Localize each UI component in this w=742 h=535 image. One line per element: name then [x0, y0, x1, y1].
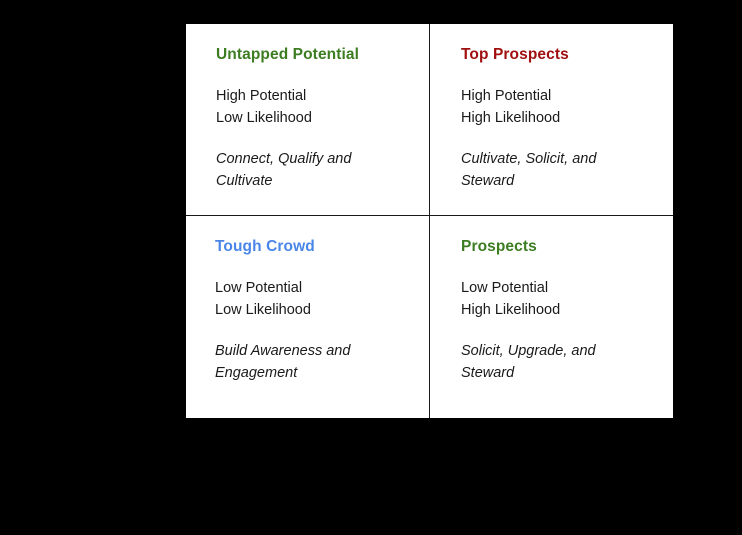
quadrant-untapped-potential[interactable]: Untapped Potential High Potential Low Li… [186, 24, 430, 216]
prospect-matrix: Untapped Potential High Potential Low Li… [186, 24, 673, 418]
quadrant-action-top-prospects: Cultivate, Solicit, and Steward [461, 148, 651, 193]
attribute-line: High Likelihood [461, 107, 673, 129]
quadrant-attributes-tough-crowd: Low Potential Low Likelihood [215, 277, 429, 322]
quadrant-title-tough-crowd: Tough Crowd [215, 238, 429, 257]
quadrant-prospects[interactable]: Prospects Low Potential High Likelihood … [430, 216, 673, 418]
quadrant-title-top-prospects: Top Prospects [461, 46, 673, 65]
quadrant-action-untapped-potential: Connect, Qualify and Cultivate [216, 148, 406, 193]
attribute-line: Low Likelihood [215, 299, 429, 321]
quadrant-action-tough-crowd: Build Awareness and Engagement [215, 340, 410, 385]
quadrant-attributes-untapped-potential: High Potential Low Likelihood [216, 85, 429, 130]
attribute-line: High Likelihood [461, 299, 673, 321]
attribute-line: High Potential [216, 85, 429, 107]
quadrant-attributes-top-prospects: High Potential High Likelihood [461, 85, 673, 130]
quadrant-attributes-prospects: Low Potential High Likelihood [461, 277, 673, 322]
attribute-line: Low Potential [215, 277, 429, 299]
attribute-line: Low Likelihood [216, 107, 429, 129]
quadrant-action-prospects: Solicit, Upgrade, and Steward [461, 340, 651, 385]
attribute-line: High Potential [461, 85, 673, 107]
quadrant-tough-crowd[interactable]: Tough Crowd Low Potential Low Likelihood… [186, 216, 430, 418]
quadrant-title-prospects: Prospects [461, 238, 673, 257]
slide-canvas: Untapped Potential High Potential Low Li… [0, 0, 742, 535]
quadrant-top-prospects[interactable]: Top Prospects High Potential High Likeli… [430, 24, 673, 216]
attribute-line: Low Potential [461, 277, 673, 299]
quadrant-title-untapped-potential: Untapped Potential [216, 46, 429, 65]
